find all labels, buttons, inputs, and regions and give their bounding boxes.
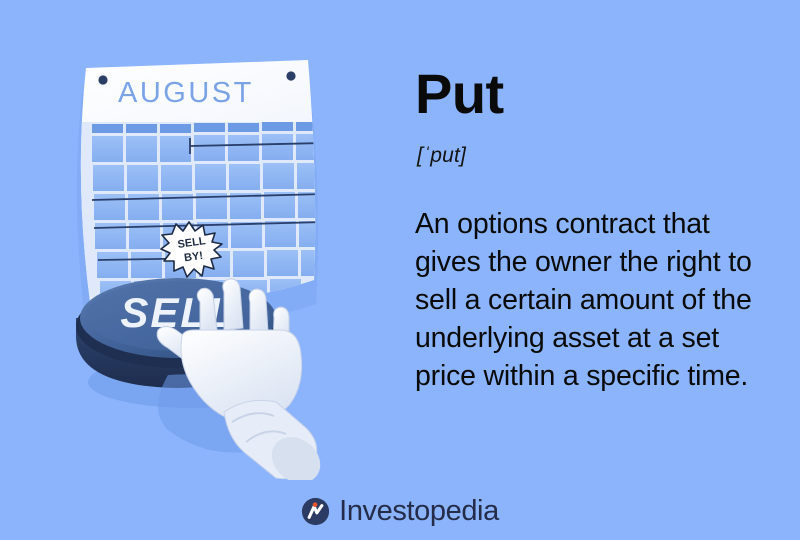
- hole-punch-icon: [98, 75, 107, 84]
- brand-name: Investopedia: [339, 497, 499, 526]
- term-pronunciation: [ˈput]: [417, 144, 770, 168]
- term-title: Put: [415, 66, 770, 122]
- term-definition: An options contract that gives the owner…: [415, 206, 765, 395]
- infographic-canvas: AUGUST SELL BY! SELL: [0, 0, 800, 540]
- definition-panel: Put [ˈput] An options contract that give…: [415, 66, 770, 395]
- calendar-month-label: AUGUST: [118, 77, 254, 109]
- sell-button-label: SELL: [120, 289, 235, 336]
- hole-punch-icon: [286, 71, 295, 80]
- investopedia-swoosh-icon: [301, 497, 330, 526]
- illustration-calendar-sell-button: AUGUST SELL BY! SELL: [18, 30, 398, 480]
- brand-footer: Investopedia: [0, 497, 800, 526]
